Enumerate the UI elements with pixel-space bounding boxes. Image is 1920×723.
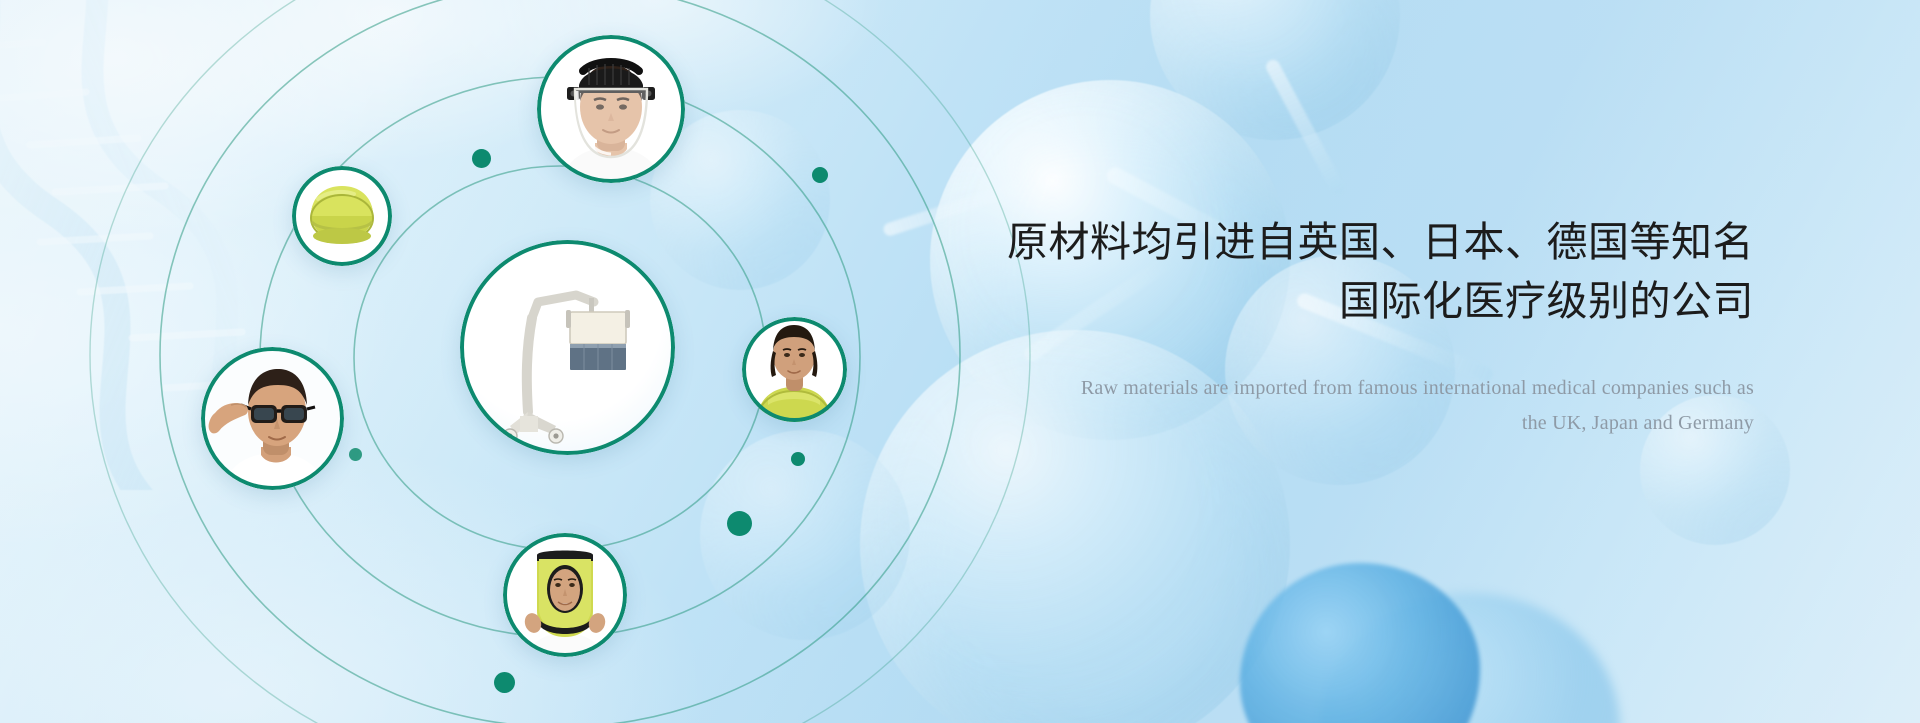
orbit-node-dot (791, 452, 805, 466)
headline-line-1: 原材料均引进自英国、日本、德国等知名 (974, 215, 1754, 270)
banner-stage: 原材料均引进自英国、日本、德国等知名 国际化医疗级别的公司 Raw materi… (0, 0, 1920, 723)
product-bubble-mobile-x-ray-shield[interactable] (460, 240, 675, 455)
product-photo-thyroid-collar (742, 317, 847, 422)
banner-copy: 原材料均引进自英国、日本、德国等知名 国际化医疗级别的公司 Raw materi… (974, 215, 1754, 442)
subtitle-line-1: Raw materials are imported from famous i… (974, 371, 1754, 407)
product-photo-mobile-x-ray-shield (460, 240, 675, 455)
orbit-node-dot (812, 167, 828, 183)
product-bubble-radiation-hood[interactable] (503, 533, 627, 657)
product-bubble-lead-cap[interactable] (292, 166, 392, 266)
product-photo-radiation-hood (503, 533, 627, 657)
product-photo-lead-glasses (201, 347, 344, 490)
product-bubble-lead-glasses[interactable] (201, 347, 344, 490)
orbit-node-dot (472, 149, 491, 168)
product-bubble-thyroid-collar[interactable] (742, 317, 847, 422)
orbit-node-dot (727, 511, 752, 536)
orbit-node-dot (349, 448, 362, 461)
product-photo-face-shield (537, 35, 685, 183)
orbit-node-dot (494, 672, 515, 693)
subtitle-line-2: the UK, Japan and Germany (974, 406, 1754, 442)
product-bubble-face-shield[interactable] (537, 35, 685, 183)
headline-line-2: 国际化医疗级别的公司 (974, 274, 1754, 329)
subtitle-en: Raw materials are imported from famous i… (974, 371, 1754, 442)
product-photo-lead-cap (292, 166, 392, 266)
